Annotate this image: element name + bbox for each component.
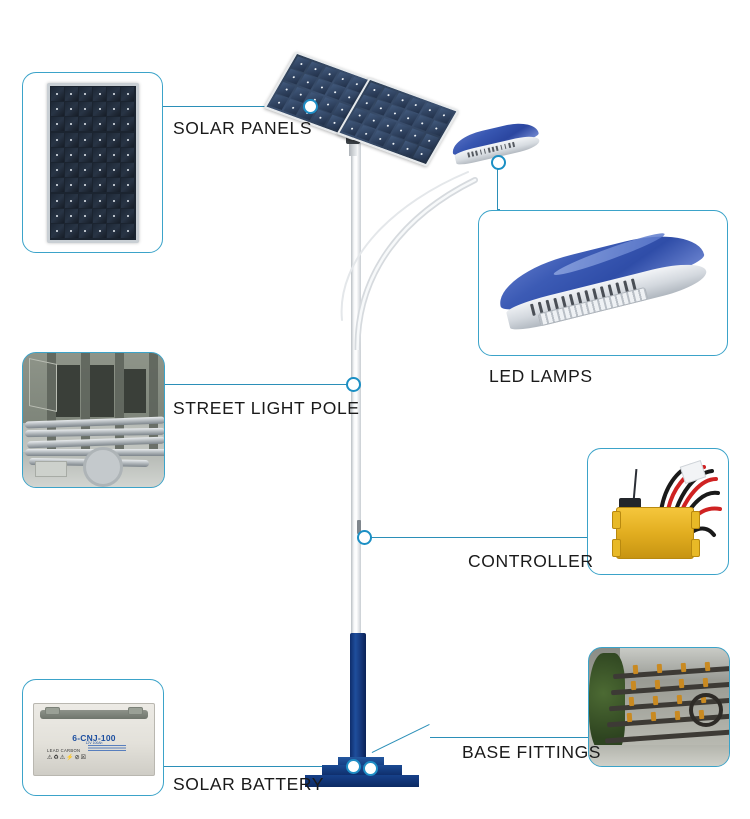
callout-label-solar-battery: SOLAR BATTERY bbox=[173, 774, 324, 795]
callout-box-street-light-pole[interactable] bbox=[22, 352, 165, 488]
connector-dot-base-fittings[interactable] bbox=[363, 761, 378, 776]
steel-pole bbox=[25, 428, 165, 437]
callout-box-controller[interactable] bbox=[587, 448, 729, 575]
leader-line-street-light-pole bbox=[165, 384, 355, 385]
warehouse-brace bbox=[29, 358, 57, 412]
connector-dot-solar-panels[interactable] bbox=[303, 99, 318, 114]
callout-label-solar-panels: SOLAR PANELS bbox=[173, 118, 312, 139]
connector-dot-controller[interactable] bbox=[357, 530, 372, 545]
callout-label-controller: CONTROLLER bbox=[468, 551, 594, 572]
controller-thumbnail bbox=[588, 449, 728, 574]
anchor-cage-ring bbox=[689, 693, 723, 727]
leader-line-base-fittings bbox=[430, 737, 590, 738]
controller-mount-ear bbox=[612, 539, 621, 557]
solar-panel-module bbox=[47, 83, 139, 243]
pole-lower-blue bbox=[350, 633, 366, 770]
callout-label-led-lamps: LED LAMPS bbox=[489, 366, 593, 387]
diagram-canvas: SOLAR PANELS LED LAMPS bbox=[0, 0, 750, 819]
battery-case: 6-CNJ-100 12V 100Ah LEAD CARBON ⚠♻⚠⚡⊘☒ bbox=[33, 703, 155, 776]
solar-panel-thumbnail bbox=[23, 73, 162, 252]
controller-mount-ear bbox=[691, 539, 700, 557]
connector-dot-solar-battery[interactable] bbox=[346, 759, 361, 774]
callout-box-base-fittings[interactable] bbox=[588, 647, 730, 767]
controller-mount-ear bbox=[691, 511, 700, 529]
warehouse-door bbox=[124, 369, 146, 413]
base-fittings-thumbnail bbox=[589, 648, 729, 766]
controller-mount-ear bbox=[612, 511, 621, 529]
callout-box-solar-panels[interactable] bbox=[22, 72, 163, 253]
controller-case bbox=[616, 507, 694, 559]
leader-line-base-fittings-diagonal bbox=[372, 724, 430, 753]
connector-dot-street-light-pole[interactable] bbox=[346, 377, 361, 392]
street-light-pole-thumbnail bbox=[23, 353, 164, 487]
warehouse-door bbox=[56, 365, 80, 417]
battery-fineprint bbox=[88, 745, 127, 753]
callout-box-solar-battery[interactable]: 6-CNJ-100 12V 100Ah LEAD CARBON ⚠♻⚠⚡⊘☒ bbox=[22, 679, 164, 796]
battery-terminal-positive bbox=[128, 707, 143, 715]
battery-thumbnail: 6-CNJ-100 12V 100Ah LEAD CARBON ⚠♻⚠⚡⊘☒ bbox=[23, 680, 163, 795]
leader-line-controller bbox=[366, 537, 589, 538]
pole-flange-ring bbox=[83, 447, 123, 487]
solar-panel-cell-grid bbox=[50, 86, 136, 240]
battery-terminal-negative bbox=[45, 707, 60, 715]
connector-dot-led-lamps[interactable] bbox=[491, 155, 506, 170]
battery-safety-icons: ⚠♻⚠⚡⊘☒ bbox=[47, 754, 87, 761]
led-lamp-thumbnail bbox=[479, 211, 727, 355]
callout-label-base-fittings: BASE FITTINGS bbox=[462, 742, 601, 763]
battery-chemistry-text: LEAD CARBON bbox=[47, 748, 80, 753]
pole-base-plate-photo bbox=[35, 461, 67, 477]
base-fittings-ground bbox=[589, 745, 729, 766]
warehouse-door bbox=[90, 365, 114, 417]
callout-box-led-lamps[interactable] bbox=[478, 210, 728, 356]
pole-base-plate bbox=[322, 765, 402, 775]
led-lamp-figure bbox=[493, 224, 714, 343]
callout-label-street-light-pole: STREET LIGHT POLE bbox=[173, 398, 360, 419]
